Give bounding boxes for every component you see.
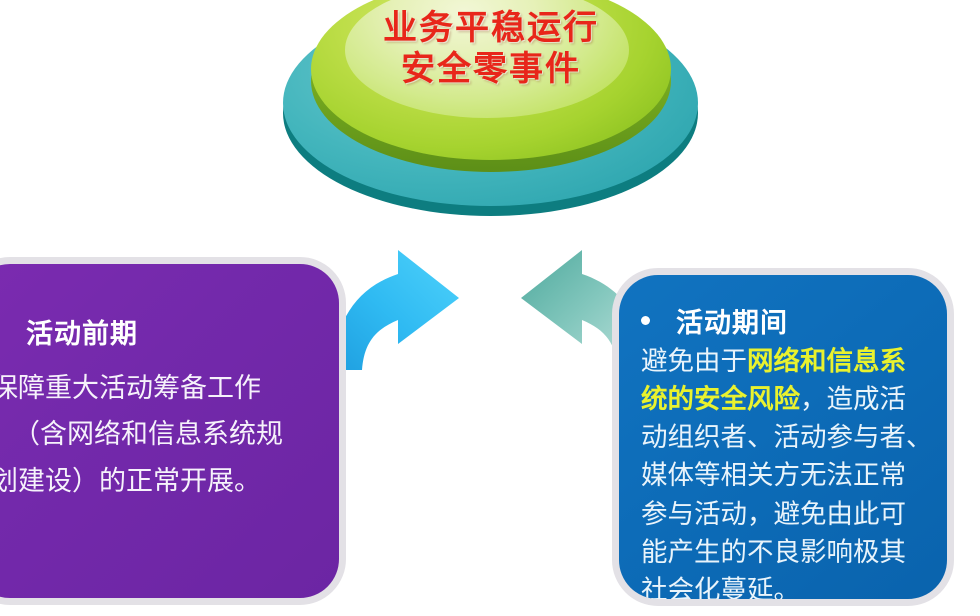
body-text: 媒体等相关方无法正常 xyxy=(641,460,906,490)
panel-body-line: 动组织者、活动参与者、 xyxy=(641,418,933,456)
goal-text-line-2: 安全零事件 xyxy=(311,49,671,90)
panel-body-line: 划建设）的正常开展。 xyxy=(0,458,317,504)
body-text: ，造成活 xyxy=(800,384,906,414)
body-text: 动组织者、活动参与者、 xyxy=(641,422,933,452)
activity-pre-phase-panel[interactable]: 活动前期 保障重大活动筹备工作 （含网络和信息系统规 划建设）的正常开展。 xyxy=(0,257,346,605)
body-text: 参与活动，避免由此可 xyxy=(641,499,906,529)
arrow-pre-to-goal-icon xyxy=(330,248,465,370)
panel-title: 活动前期 xyxy=(26,312,138,351)
diagram-canvas: 业务平稳运行 安全零事件 xyxy=(0,0,980,616)
goal-ellipse: 业务平稳运行 安全零事件 xyxy=(283,0,698,232)
panel-content: 活动期间 避免由于网络和信息系统的安全风险，造成活动组织者、活动参与者、媒体等相… xyxy=(619,275,947,599)
goal-text: 业务平稳运行 安全零事件 xyxy=(311,8,671,91)
highlighted-text: 统的安全风险 xyxy=(641,384,800,414)
panel-body: 避免由于网络和信息系统的安全风险，造成活动组织者、活动参与者、媒体等相关方无法正… xyxy=(641,342,933,606)
panel-body-line: 能产生的不良影响极其 xyxy=(641,533,933,571)
panel-body-line: 避免由于网络和信息系 xyxy=(641,342,933,380)
activity-during-phase-panel[interactable]: 活动期间 避免由于网络和信息系统的安全风险，造成活动组织者、活动参与者、媒体等相… xyxy=(612,268,954,606)
panel-body-line: 媒体等相关方无法正常 xyxy=(641,456,933,494)
panel-body-line: （含网络和信息系统规 xyxy=(0,411,317,457)
panel-body: 保障重大活动筹备工作 （含网络和信息系统规 划建设）的正常开展。 xyxy=(0,365,317,504)
body-text: 社会化蔓延。 xyxy=(641,575,800,605)
highlighted-text: 网络和信息系 xyxy=(747,346,906,376)
panel-body-line: 社会化蔓延。 xyxy=(641,571,933,606)
bullet-icon xyxy=(641,316,650,325)
panel-body-line: 保障重大活动筹备工作 xyxy=(0,365,317,411)
body-text: 避免由于 xyxy=(641,346,747,376)
panel-body-line: 参与活动，避免由此可 xyxy=(641,495,933,533)
panel-title-row: 活动期间 xyxy=(641,301,933,340)
panel-title: 活动期间 xyxy=(676,301,788,340)
panel-content: 活动前期 保障重大活动筹备工作 （含网络和信息系统规 划建设）的正常开展。 xyxy=(0,264,339,598)
body-text: 能产生的不良影响极其 xyxy=(641,537,906,567)
panel-body-line: 统的安全风险，造成活 xyxy=(641,380,933,418)
goal-text-line-1: 业务平稳运行 xyxy=(311,8,671,49)
panel-title-row: 活动前期 xyxy=(0,312,317,351)
